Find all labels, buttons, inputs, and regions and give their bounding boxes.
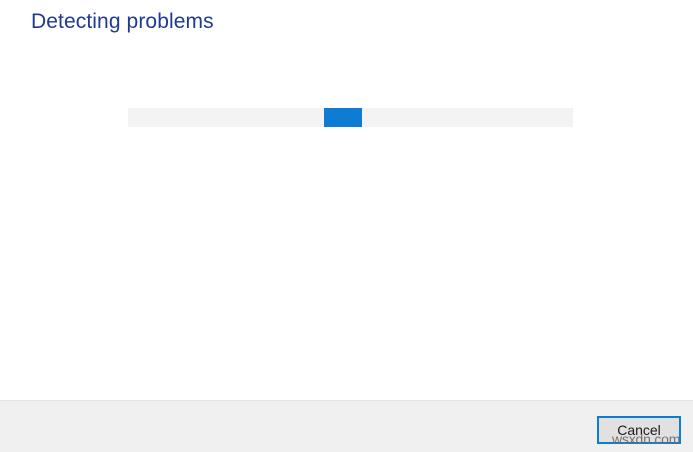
troubleshooter-window: Detecting problems Cancel wsxdn.com bbox=[0, 0, 693, 452]
progress-bar bbox=[128, 108, 573, 127]
cancel-button[interactable]: Cancel bbox=[597, 416, 681, 444]
progress-indicator bbox=[324, 108, 362, 127]
content-area: Detecting problems bbox=[0, 0, 693, 400]
cancel-button-label: Cancel bbox=[617, 423, 661, 437]
page-title: Detecting problems bbox=[31, 10, 214, 34]
footer-command-bar: Cancel bbox=[0, 400, 693, 452]
